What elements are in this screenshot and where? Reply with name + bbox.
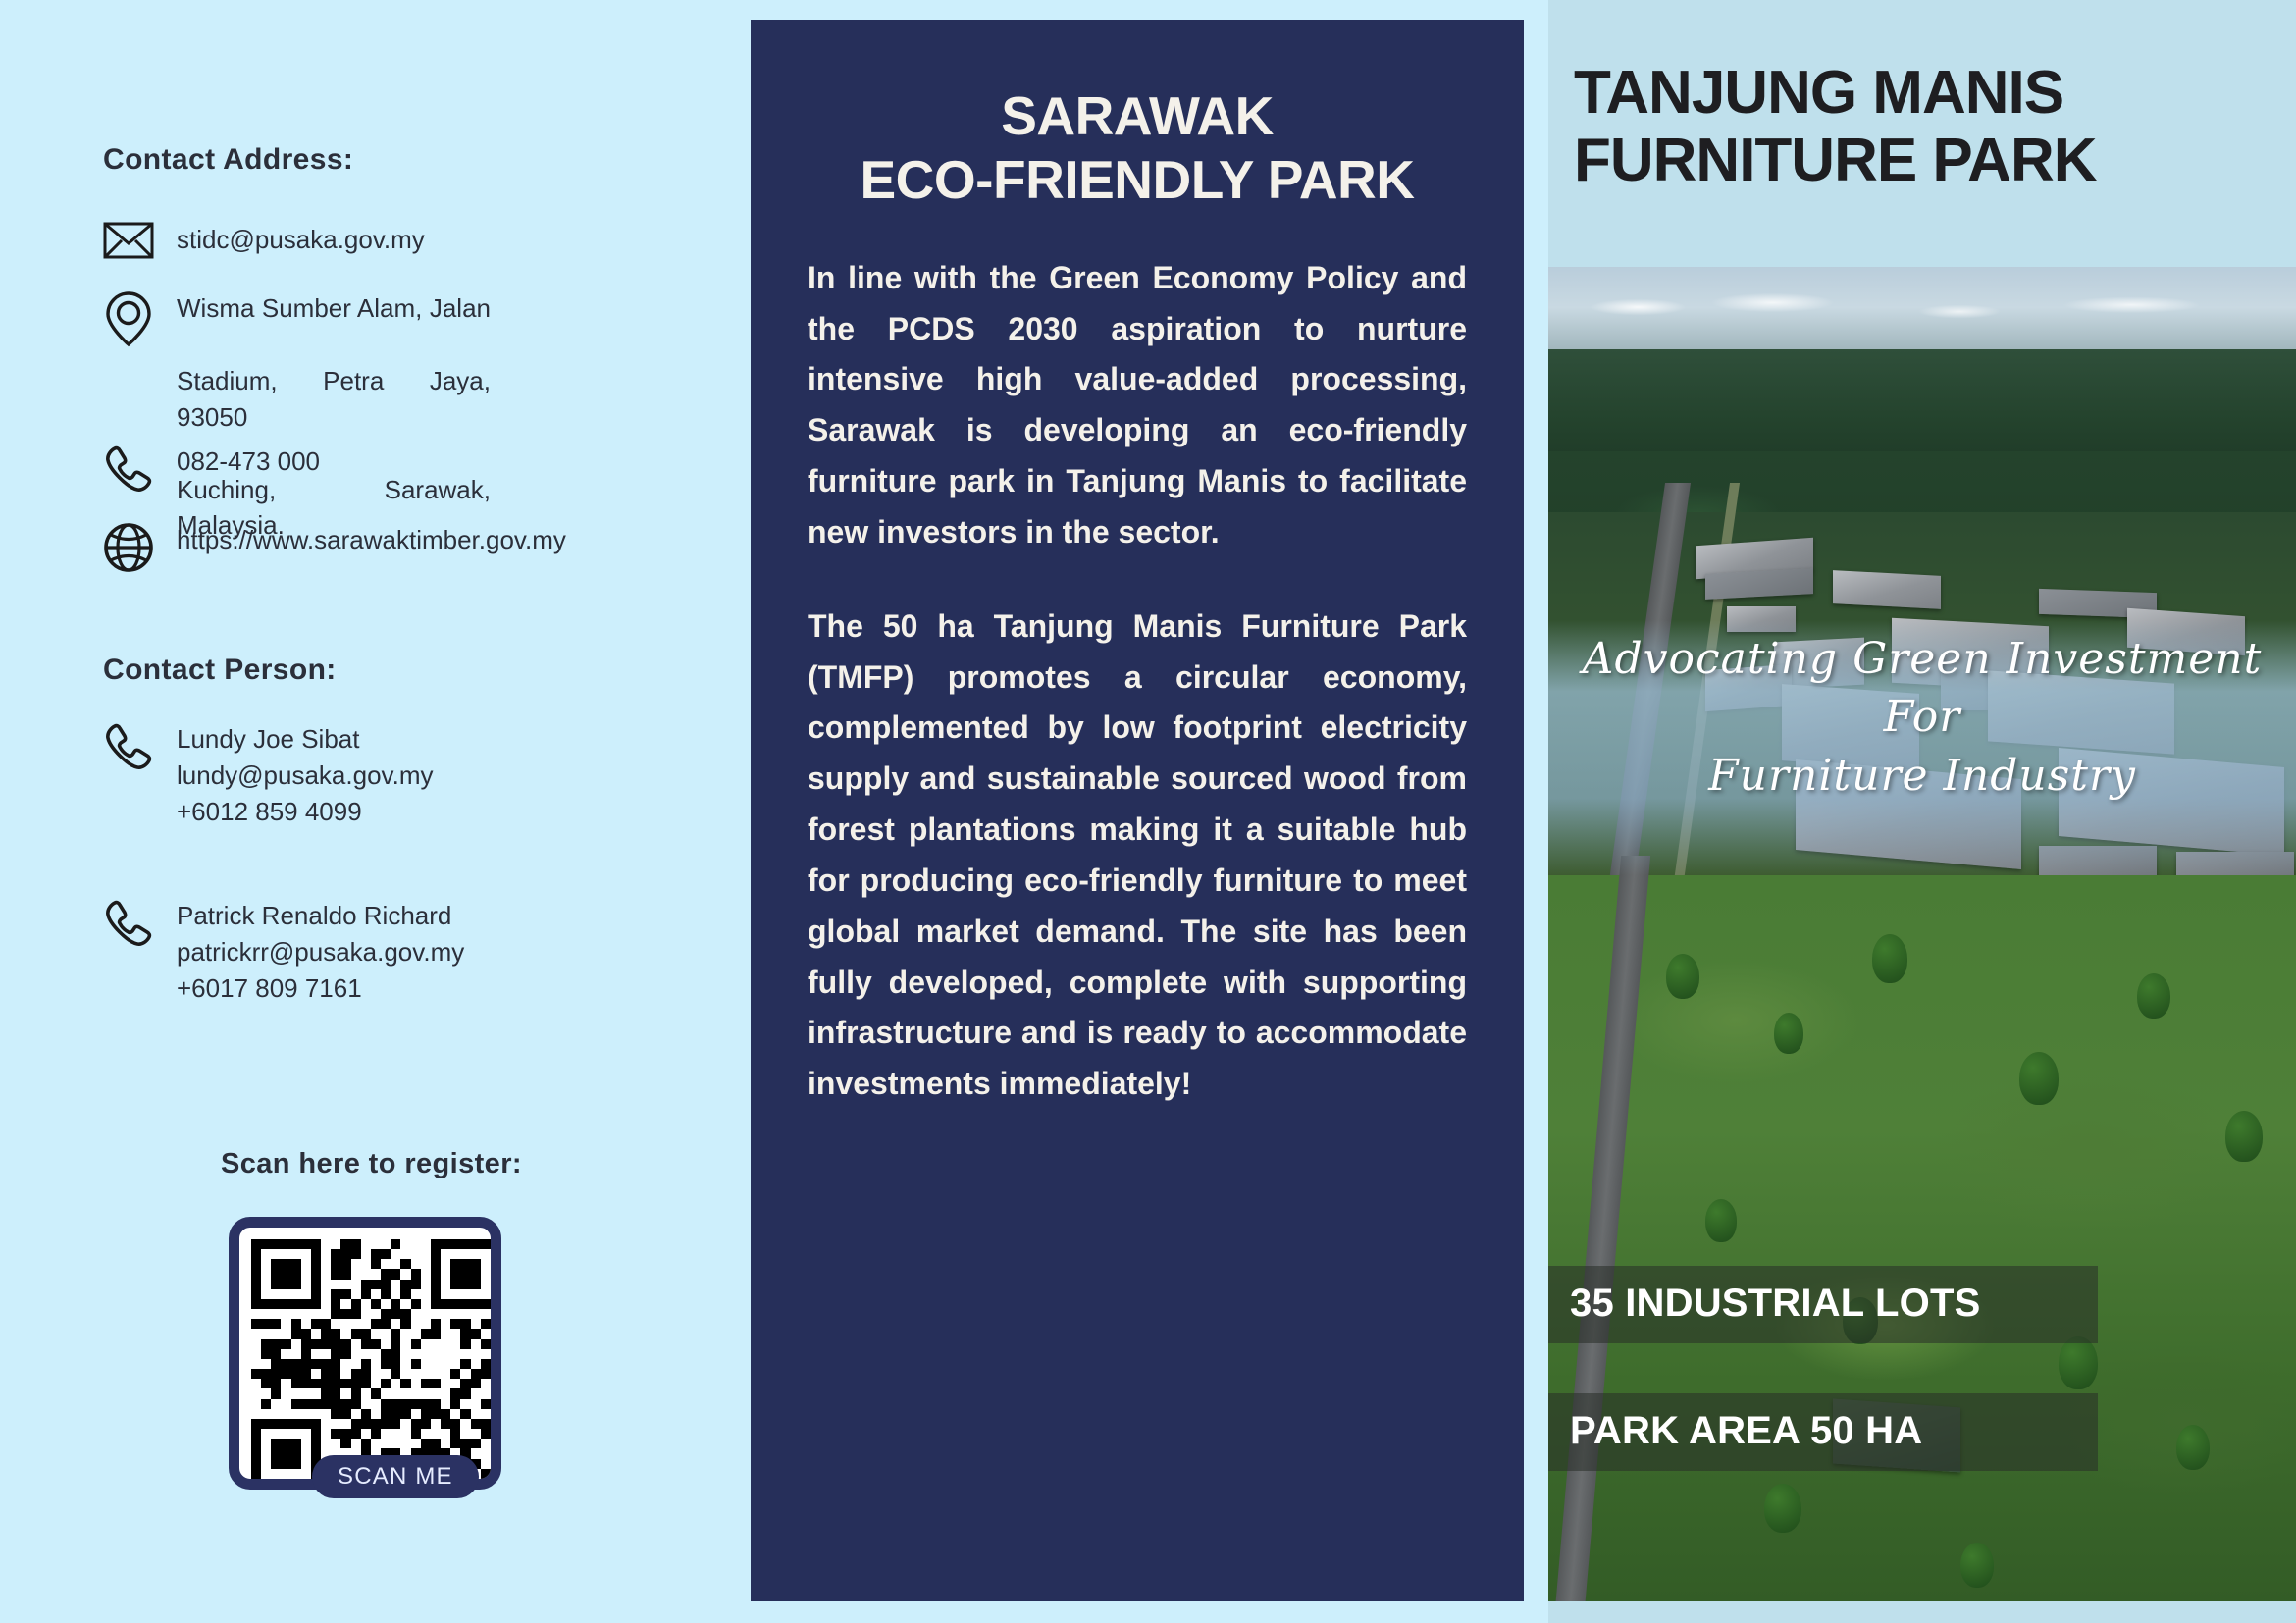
map-pin-icon — [98, 290, 159, 347]
person-mobile: +6017 809 7161 — [177, 970, 464, 1007]
photo-building — [1833, 570, 1941, 609]
tagline-line-1: Advocating Green Investment For — [1548, 630, 2296, 747]
scan-me-badge: SCAN ME — [312, 1455, 479, 1498]
contact-website-text: https://www.sarawaktimber.gov.my — [177, 522, 566, 558]
contact-email-row[interactable]: stidc@pusaka.gov.my — [98, 222, 425, 259]
photo-tree — [1705, 1199, 1737, 1242]
contact-person-details: Lundy Joe Sibat lundy@pusaka.gov.my +601… — [177, 721, 434, 830]
contact-person-heading: Contact Person: — [103, 654, 337, 687]
person-email: patrickrr@pusaka.gov.my — [177, 934, 464, 970]
photo-tree — [1764, 1484, 1801, 1533]
center-paragraph-2: The 50 ha Tanjung Manis Furniture Park (… — [808, 602, 1467, 1110]
hero-panel: TANJUNG MANIS FURNITURE PARK — [1548, 0, 2296, 1623]
address-line-1: Wisma Sumber Alam, Jalan — [177, 290, 491, 363]
scan-here-heading: Scan here to register: — [221, 1148, 522, 1180]
contact-person-details: Patrick Renaldo Richard patrickrr@pusaka… — [177, 898, 464, 1007]
contact-person-row[interactable]: Patrick Renaldo Richard patrickrr@pusaka… — [98, 898, 464, 1007]
photo-clouds — [1548, 285, 2296, 330]
phone-icon — [98, 721, 159, 772]
photo-building — [1705, 568, 1813, 600]
contact-address-text: Wisma Sumber Alam, Jalan Stadium, Petra … — [177, 290, 491, 544]
photo-tree — [1774, 1013, 1803, 1054]
photo-tree — [2019, 1052, 2059, 1105]
center-title: SARAWAK ECO-FRIENDLY PARK — [808, 84, 1467, 212]
photo-tree — [1960, 1543, 1994, 1588]
envelope-icon — [98, 222, 159, 259]
photo-tree — [2059, 1336, 2098, 1389]
photo-tree — [2137, 973, 2170, 1019]
qr-code-matrix — [251, 1239, 479, 1467]
photo-distant-treeline — [1548, 349, 2296, 467]
description-panel: SARAWAK ECO-FRIENDLY PARK In line with t… — [751, 20, 1524, 1601]
hero-title: TANJUNG MANIS FURNITURE PARK — [1548, 0, 2296, 195]
contact-website-row[interactable]: https://www.sarawaktimber.gov.my — [98, 522, 566, 573]
photo-tree — [1666, 954, 1699, 999]
person-mobile: +6012 859 4099 — [177, 794, 434, 830]
center-paragraph-1: In line with the Green Economy Policy an… — [808, 253, 1467, 558]
contact-phone-text: 082-473 000 — [177, 444, 320, 480]
tagline-line-2: Furniture Industry — [1548, 747, 2296, 805]
photo-green-road — [1554, 856, 1650, 1601]
contact-panel: Contact Address: stidc@pusaka.gov.my Wis… — [0, 0, 751, 1623]
contact-person-row[interactable]: Lundy Joe Sibat lundy@pusaka.gov.my +601… — [98, 721, 434, 830]
badge-industrial-lots: 35 INDUSTRIAL LOTS — [1548, 1266, 2098, 1343]
person-email: lundy@pusaka.gov.my — [177, 758, 434, 794]
photo-tree — [1872, 934, 1907, 983]
person-name: Patrick Renaldo Richard — [177, 898, 464, 934]
aerial-photo: Advocating Green Investment For Furnitur… — [1548, 267, 2296, 1601]
contact-phone-row[interactable]: 082-473 000 — [98, 444, 320, 495]
badge-park-area: PARK AREA 50 HA — [1548, 1393, 2098, 1471]
globe-icon — [98, 522, 159, 573]
hero-title-line-2: FURNITURE PARK — [1574, 127, 2274, 194]
hero-title-line-1: TANJUNG MANIS — [1574, 59, 2274, 127]
contact-address-heading: Contact Address: — [103, 143, 353, 177]
phone-icon — [98, 444, 159, 495]
qr-code[interactable] — [229, 1217, 501, 1490]
phone-icon — [98, 898, 159, 949]
contact-address-row: Wisma Sumber Alam, Jalan Stadium, Petra … — [98, 290, 491, 544]
photo-greenfield — [1548, 875, 2296, 1601]
photo-tree — [2176, 1425, 2210, 1470]
contact-email-text: stidc@pusaka.gov.my — [177, 222, 425, 258]
photo-tree — [2225, 1111, 2263, 1162]
center-title-line-1: SARAWAK — [808, 84, 1467, 148]
tagline-overlay: Advocating Green Investment For Furnitur… — [1548, 630, 2296, 805]
center-title-line-2: ECO-FRIENDLY PARK — [808, 148, 1467, 212]
person-name: Lundy Joe Sibat — [177, 721, 434, 758]
